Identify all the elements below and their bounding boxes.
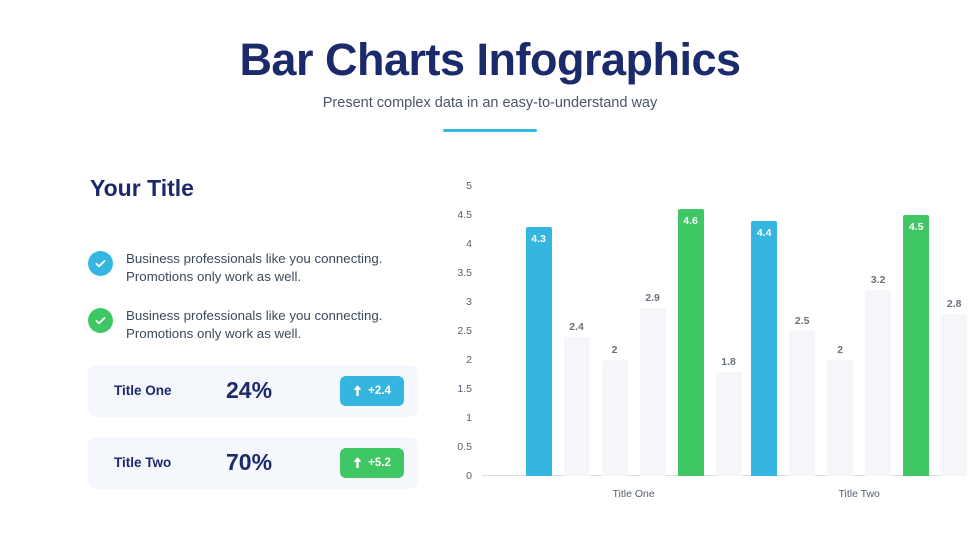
bar: 2.5 [789,331,815,476]
list-item: Business professionals like you connecti… [88,250,418,285]
bar-value-label: 4.4 [751,227,777,239]
bar: 4.3 [526,227,552,476]
bar-value-label: 1.8 [716,356,742,368]
y-axis-tick: 0.5 [457,441,472,453]
stat-value: 24% [226,377,340,404]
left-panel: Your Title Business professionals like y… [88,175,418,489]
status-badge: +2.4 [340,376,404,406]
y-axis-tick: 3.5 [457,267,472,279]
check-icon [88,308,113,333]
header: Bar Charts Infographics Present complex … [0,0,980,132]
slide: Bar Charts Infographics Present complex … [0,0,980,551]
badge-text: +2.4 [368,385,391,397]
bar: 1.8 [716,372,742,476]
list-item-text: Business professionals like you connecti… [126,250,418,285]
bar-value-label: 2.4 [564,321,590,333]
y-axis-tick: 3 [466,296,472,308]
bar: 2.4 [564,337,590,476]
x-axis-category-label: Title Two [838,488,879,500]
y-axis-tick: 4.5 [457,209,472,221]
bar-value-label: 3.2 [865,274,891,286]
y-axis-tick: 1 [466,412,472,424]
stat-card-title-one: Title One 24% +2.4 [88,365,418,417]
page-title: Bar Charts Infographics [0,36,980,83]
badge-text: +5.2 [368,457,391,469]
arrow-up-icon [353,385,362,396]
bar-chart: 00.511.522.533.544.55 4.32.422.94.61.84.… [440,178,960,518]
bar: 3.2 [865,290,891,476]
list-item: Business professionals like you connecti… [88,307,418,342]
bar-value-label: 2.8 [941,298,967,310]
arrow-up-icon [353,457,362,468]
bar: 4.6 [678,209,704,476]
section-heading: Your Title [90,175,418,202]
bar-value-label: 2 [602,344,628,356]
status-badge: +5.2 [340,448,404,478]
y-axis-tick: 2 [466,354,472,366]
y-axis-tick: 5 [466,180,472,192]
page-subtitle: Present complex data in an easy-to-under… [0,95,980,111]
bar-group: 4.42.523.24.52.8 [745,186,973,476]
stat-card-title-two: Title Two 70% +5.2 [88,437,418,489]
y-axis: 00.511.522.533.544.55 [440,186,478,476]
stat-label: Title Two [114,455,226,470]
y-axis-tick: 0 [466,470,472,482]
bar-value-label: 4.5 [903,221,929,233]
x-axis-category-label: Title One [612,488,654,500]
bar: 4.4 [751,221,777,476]
bar-value-label: 2 [827,344,853,356]
stat-value: 70% [226,449,340,476]
y-axis-tick: 2.5 [457,325,472,337]
list-item-text: Business professionals like you connecti… [126,307,418,342]
bar: 2.8 [941,314,967,476]
bar-group: 4.32.422.94.61.8 [520,186,748,476]
plot-area: 4.32.422.94.61.84.42.523.24.52.8 [482,186,952,476]
bar: 2 [827,360,853,476]
stat-label: Title One [114,383,226,398]
y-axis-tick: 4 [466,238,472,250]
title-underline [443,129,537,132]
bar: 2 [602,360,628,476]
bar-value-label: 2.5 [789,315,815,327]
check-icon [88,251,113,276]
bar-value-label: 4.3 [526,233,552,245]
y-axis-tick: 1.5 [457,383,472,395]
bar-value-label: 4.6 [678,215,704,227]
bar: 4.5 [903,215,929,476]
bar-value-label: 2.9 [640,292,666,304]
bar: 2.9 [640,308,666,476]
